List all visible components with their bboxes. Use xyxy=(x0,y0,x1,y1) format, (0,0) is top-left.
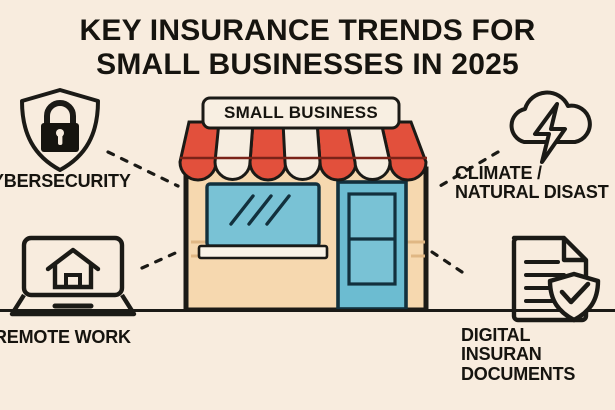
window-sill xyxy=(199,246,327,258)
label-digital-documents: DIGITAL INSURAN DOCUMENTS xyxy=(461,326,615,384)
infographic-canvas: KEY INSURANCE TRENDS FOR SMALL BUSINESSE… xyxy=(0,0,615,410)
label-remote-work: REMOTE WORK xyxy=(0,328,131,347)
laptop-house-icon xyxy=(8,232,138,322)
shop-sign-text: SMALL BUSINESS xyxy=(203,98,399,128)
shield-lock-icon xyxy=(14,86,106,174)
storefront-illustration: SMALL BUSINESS xyxy=(175,96,437,311)
shop-window xyxy=(207,184,319,246)
document-shield-check-icon xyxy=(502,232,604,324)
label-climate: CLIMATE / NATURAL DISAST xyxy=(455,164,609,203)
cloud-lightning-icon xyxy=(502,84,600,168)
label-cybersecurity: YBERSECURITY xyxy=(0,172,131,191)
